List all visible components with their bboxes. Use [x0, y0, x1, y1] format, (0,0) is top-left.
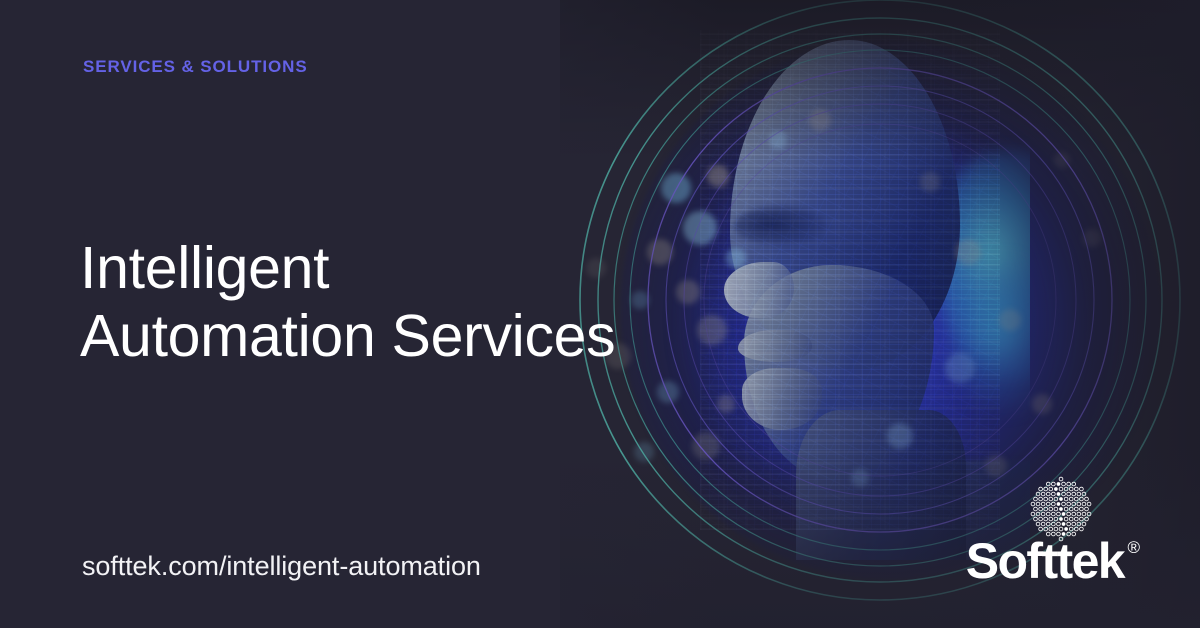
eyebrow-category-label: SERVICES & SOLUTIONS — [83, 57, 308, 77]
registered-trademark-symbol: ® — [1127, 539, 1140, 556]
website-url-label[interactable]: softtek.com/intelligent-automation — [82, 551, 481, 582]
softtek-wordmark: Softtek — [966, 536, 1124, 586]
promo-banner: SERVICES & SOLUTIONS Intelligent Automat… — [0, 0, 1200, 628]
softtek-logo[interactable]: Softtek ® — [950, 476, 1140, 586]
page-title: Intelligent Automation Services — [80, 234, 615, 370]
